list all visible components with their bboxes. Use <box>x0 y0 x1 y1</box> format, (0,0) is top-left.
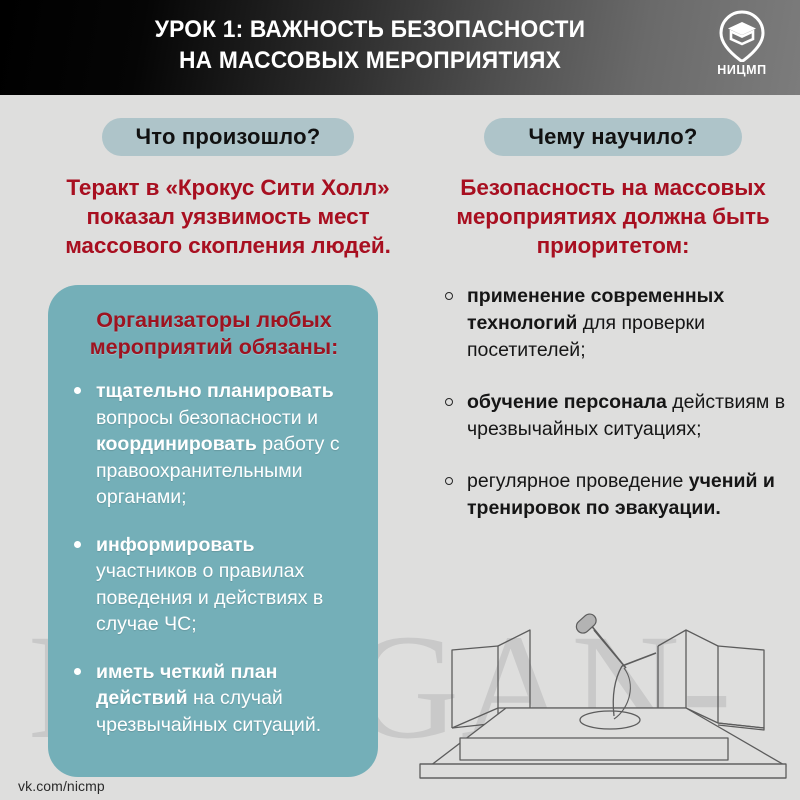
list-item: иметь четкий план действий на случай чре… <box>70 659 358 739</box>
card-title: Организаторы любых мероприятий обязаны: <box>70 307 358 361</box>
organizers-duties-card: Организаторы любых мероприятий обязаны: … <box>48 285 378 777</box>
list-item: информировать участников о правилах пове… <box>70 532 358 638</box>
bullet-circle-icon <box>445 398 453 406</box>
lessons-list: применение современных технологий для пр… <box>440 283 786 522</box>
bullet-dot-icon <box>74 541 81 548</box>
right-lead-text: Безопасность на массовых мероприятиях до… <box>440 173 786 260</box>
list-item-bold-1: информировать <box>96 534 255 556</box>
bullet-dot-icon <box>74 668 81 675</box>
list-item-bold-1: тщательно планировать <box>96 380 334 402</box>
card-bullet-list: тщательно планировать вопросы безопаснос… <box>70 378 358 738</box>
badge-what-it-taught: Чему научило? <box>484 118 742 156</box>
list-item: регулярное проведение учений и тренирово… <box>440 468 786 522</box>
list-item-text-1: регулярное проведение <box>467 470 689 492</box>
left-column: Что произошло? Теракт в «Крокус Сити Хол… <box>28 118 428 260</box>
right-column: Чему научило? Безопасность на массовых м… <box>440 118 786 522</box>
poster-root: УРОК 1: ВАЖНОСТЬ БЕЗОПАСНОСТИ НА МАССОВЫ… <box>0 0 800 800</box>
bullet-circle-icon <box>445 477 453 485</box>
list-item-text-1: вопросы безопасности и <box>96 407 318 429</box>
stage-with-microphone-illustration <box>418 588 800 788</box>
bullet-circle-icon <box>445 292 453 300</box>
list-item-bold-2: координировать <box>96 433 257 455</box>
badge-what-happened: Что произошло? <box>102 118 354 156</box>
left-lead-text: Теракт в «Крокус Сити Холл» показал уязв… <box>28 173 428 260</box>
vk-profile-link[interactable]: vk.com/nicmp <box>18 778 105 794</box>
list-item-text-1: участников о правилах поведения и действ… <box>96 560 323 635</box>
brand-logo: НИЦМП <box>706 10 778 86</box>
page-title: УРОК 1: ВАЖНОСТЬ БЕЗОПАСНОСТИ НА МАССОВЫ… <box>91 14 649 76</box>
list-item: применение современных технологий для пр… <box>440 283 786 364</box>
bullet-dot-icon <box>74 387 81 394</box>
list-item: тщательно планировать вопросы безопаснос… <box>70 378 358 511</box>
brand-name: НИЦМП <box>717 63 767 77</box>
graduation-cap-pin-icon <box>718 10 766 62</box>
header-bar: УРОК 1: ВАЖНОСТЬ БЕЗОПАСНОСТИ НА МАССОВЫ… <box>0 0 800 95</box>
list-item-bold-1: обучение персонала <box>467 391 667 413</box>
list-item: обучение персонала действиям в чрезвычай… <box>440 389 786 443</box>
